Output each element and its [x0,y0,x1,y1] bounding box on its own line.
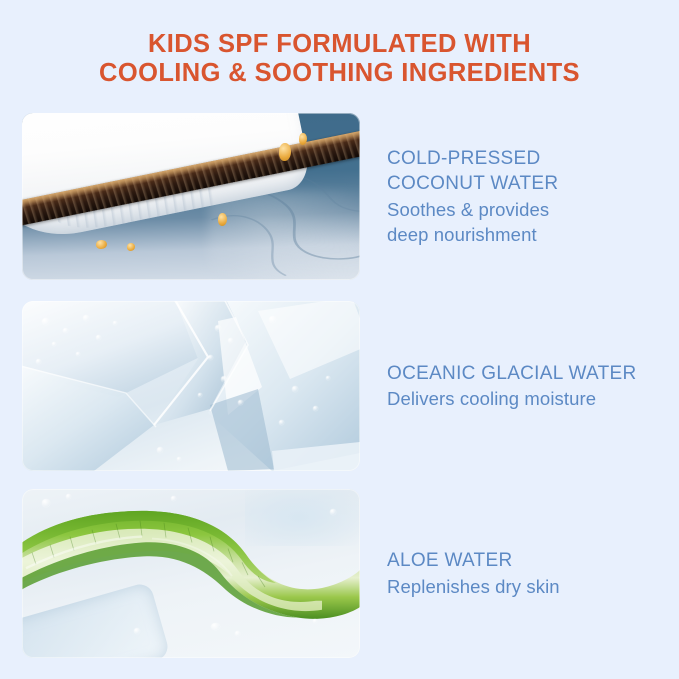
ice-bubble [238,400,243,405]
ice-bubble [83,315,89,321]
ice-bubble [63,328,68,333]
water-bubble [235,631,240,636]
coconut-droplet [279,143,291,161]
ingredient-row-aloe: ALOE WATER Replenishes dry skin [0,489,679,658]
ingredient-title: COLD-PRESSED [387,146,558,172]
ice-bubble [198,393,202,397]
ice-bubble [36,359,41,364]
ingredient-title-line-2: COCONUT WATER [387,171,558,197]
ice-bubble [269,316,276,323]
ice-bubble [326,376,330,380]
ingredient-description: Soothes & provides [387,197,558,223]
water-bubble [211,623,220,630]
page-title-line-1: KIDS SPF FORMULATED WITH [0,30,679,59]
ingredient-title: ALOE WATER [387,548,560,574]
ice-shards [22,301,360,471]
water-bubble [330,509,336,515]
ingredient-copy-glacial-water: OCEANIC GLACIAL WATER Delivers cooling m… [387,361,636,412]
ingredient-row-glacial-water: OCEANIC GLACIAL WATER Delivers cooling m… [0,301,679,471]
water-bubble [134,628,140,634]
ingredient-description: Delivers cooling moisture [387,386,636,412]
ingredient-copy-coconut: COLD-PRESSED COCONUT WATER Soothes & pro… [387,146,558,248]
coconut-photo [22,113,360,280]
aloe-leaf-shape [22,503,360,631]
ice-bubble [215,325,221,331]
ingredient-title: OCEANIC GLACIAL WATER [387,361,636,387]
water-bubble [66,494,71,499]
ingredient-description: Replenishes dry skin [387,574,560,600]
ingredient-row-coconut: COLD-PRESSED COCONUT WATER Soothes & pro… [0,113,679,280]
page-title: KIDS SPF FORMULATED WITH COOLING & SOOTH… [0,30,679,88]
water-bubble [313,619,317,623]
water-bubble [171,496,176,501]
ingredient-description-line-2: deep nourishment [387,222,558,248]
page-title-line-2: COOLING & SOOTHING INGREDIENTS [0,59,679,88]
ingredient-copy-aloe: ALOE WATER Replenishes dry skin [387,548,560,599]
glacial-ice-photo [22,301,360,471]
ice-bubble [279,420,284,425]
aloe-leaf-photo [22,489,360,658]
